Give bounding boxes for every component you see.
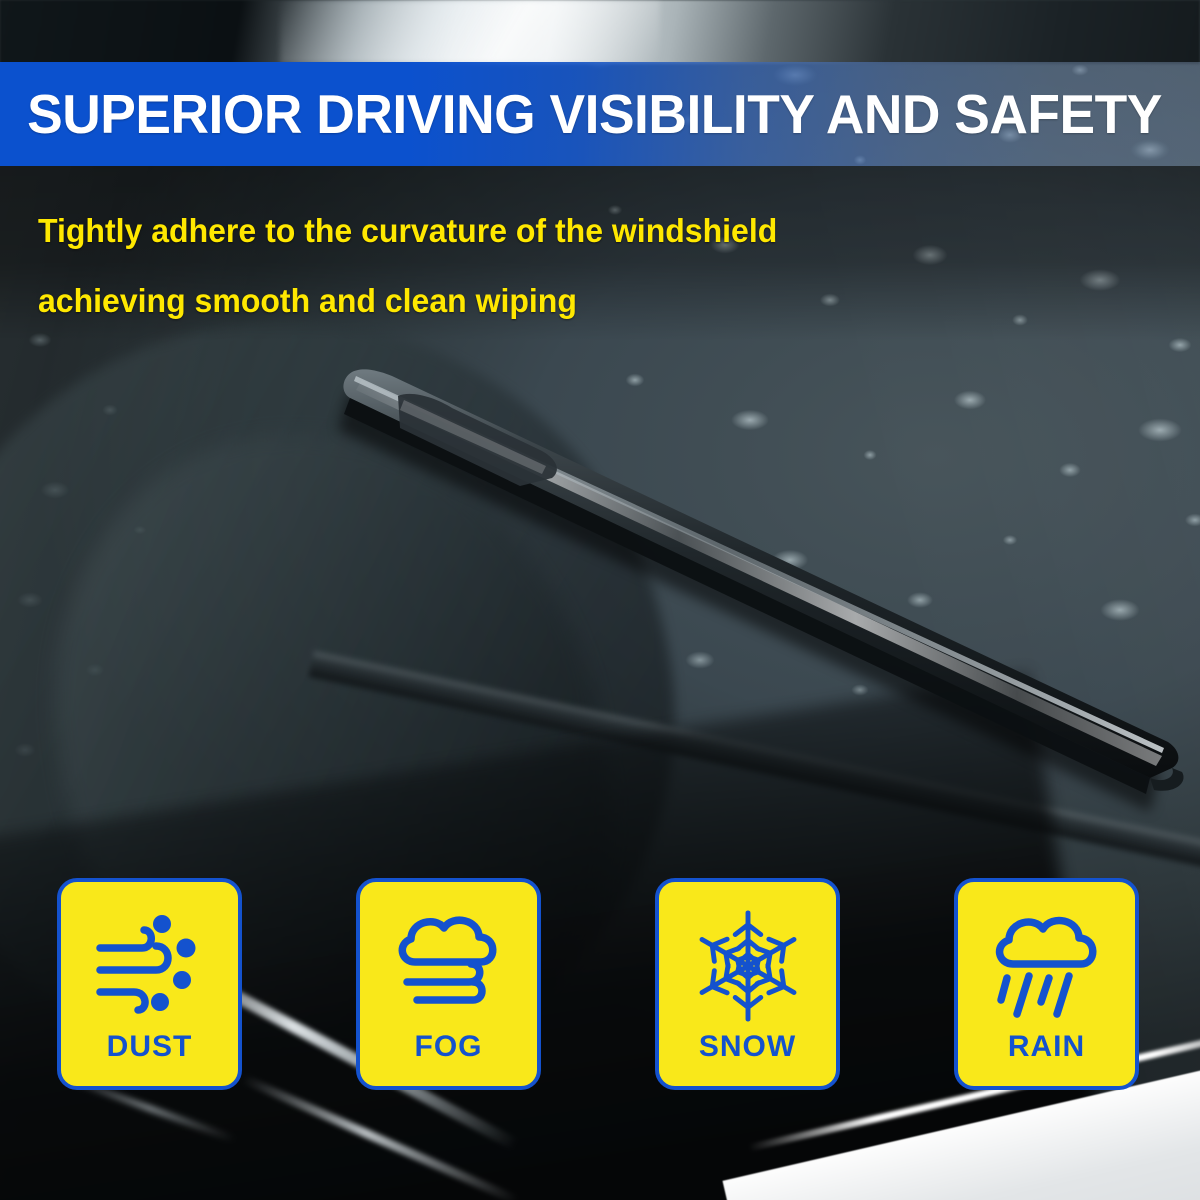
- feature-badge-rain[interactable]: RAIN: [954, 878, 1139, 1090]
- subtitle-line-1: Tightly adhere to the curvature of the w…: [38, 196, 1008, 266]
- wind-dust-icon: [61, 900, 238, 1032]
- snowflake-icon: [659, 900, 836, 1032]
- subtitle-line-2: achieving smooth and clean wiping: [38, 266, 1008, 336]
- headline-banner: SUPERIOR DRIVING VISIBILITY AND SAFETY: [0, 62, 1200, 166]
- top-reflection-highlight: [280, 0, 660, 64]
- product-feature-image: SUPERIOR DRIVING VISIBILITY AND SAFETY T…: [0, 0, 1200, 1200]
- feature-badge-fog[interactable]: FOG: [356, 878, 541, 1090]
- feature-badge-snow[interactable]: SNOW: [655, 878, 840, 1090]
- feature-badge-label-dust: DUST: [107, 1032, 193, 1086]
- subtitle-block: Tightly adhere to the curvature of the w…: [38, 196, 1038, 336]
- feature-badge-label-snow: SNOW: [699, 1032, 796, 1086]
- feature-badge-row: DUST FOG: [57, 878, 1139, 1090]
- cloud-fog-icon: [360, 900, 537, 1032]
- headline-text: SUPERIOR DRIVING VISIBILITY AND SAFETY: [0, 87, 1162, 142]
- cloud-rain-icon: [958, 900, 1135, 1032]
- feature-badge-label-fog: FOG: [415, 1032, 483, 1086]
- feature-badge-dust[interactable]: DUST: [57, 878, 242, 1090]
- feature-badge-label-rain: RAIN: [1008, 1032, 1085, 1086]
